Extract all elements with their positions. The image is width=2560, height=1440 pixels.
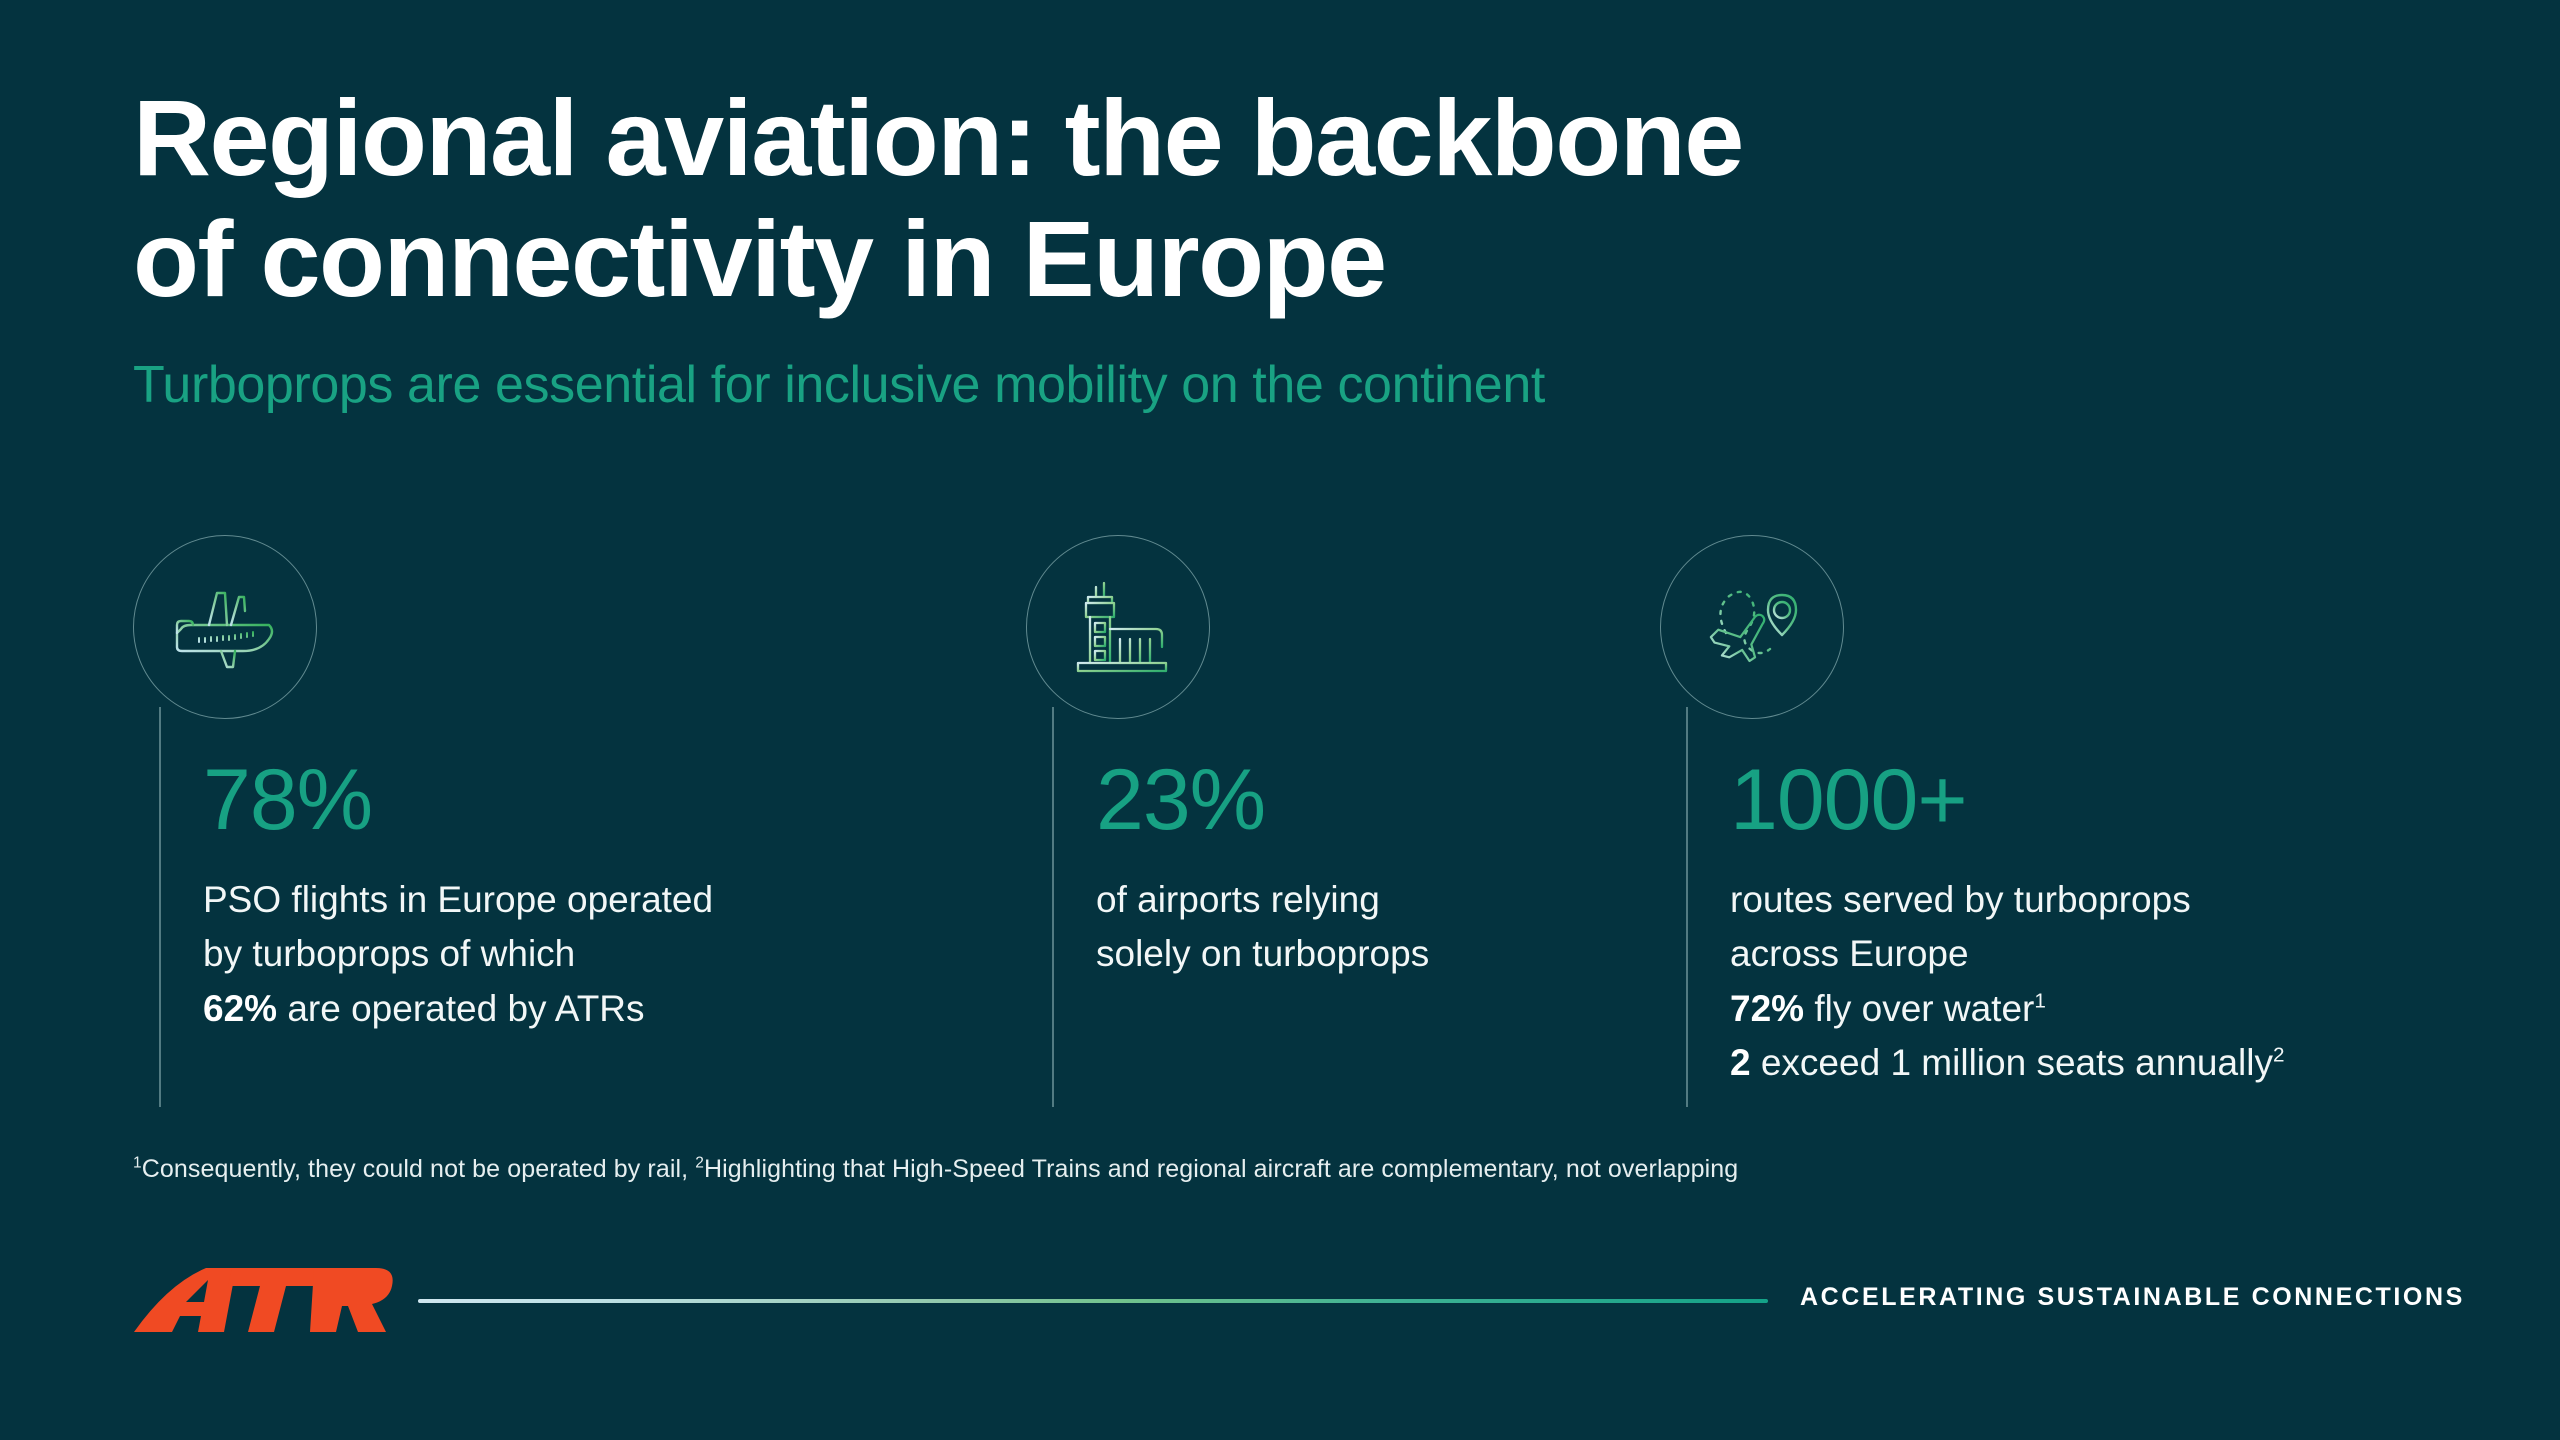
page-title: Regional aviation: the backbone of conne…	[133, 78, 2333, 320]
stat-value: 78%	[203, 757, 983, 843]
stat-description-line: routes served by turboprops	[1730, 873, 2490, 927]
stat-value: 1000+	[1730, 757, 2490, 843]
footnote-marker-2: 2	[695, 1155, 704, 1172]
stat-description-line: 2 exceed 1 million seats annually2	[1730, 1036, 2490, 1090]
header: Regional aviation: the backbone of conne…	[133, 78, 2333, 416]
icon-circle-outline	[133, 535, 317, 719]
icon-container	[1660, 535, 1846, 721]
footer-gradient-rule	[418, 1299, 1768, 1303]
stat-body: 23% of airports relyingsolely on turbopr…	[1096, 757, 1716, 982]
footer-tagline: ACCELERATING SUSTAINABLE CONNECTIONS	[1800, 1283, 2465, 1312]
stat-description-line: by turboprops of which	[203, 927, 983, 981]
stat-column-airport: 23% of airports relyingsolely on turbopr…	[1026, 535, 1686, 721]
stat-column-airplane: 78% PSO flights in Europe operatedby tur…	[133, 535, 993, 721]
stat-description-line: 72% fly over water1	[1730, 982, 2490, 1036]
stat-description-line: solely on turboprops	[1096, 927, 1716, 981]
stat-highlight: 72%	[1730, 988, 1804, 1029]
icon-container	[133, 535, 319, 721]
footnote-marker-1: 1	[133, 1155, 142, 1172]
icon-container	[1026, 535, 1212, 721]
stat-highlight: 2	[1730, 1042, 1751, 1083]
stat-description-line: across Europe	[1730, 927, 2490, 981]
icon-circle-outline	[1026, 535, 1210, 719]
column-divider-line	[159, 707, 161, 1107]
stat-value: 23%	[1096, 757, 1716, 843]
footnote-reference: 1	[2034, 989, 2046, 1012]
page-subtitle: Turboprops are essential for inclusive m…	[133, 320, 2333, 416]
stat-columns: 78% PSO flights in Europe operatedby tur…	[0, 535, 2560, 1095]
stat-description-line: 62% are operated by ATRs	[203, 982, 983, 1036]
column-divider-line	[1052, 707, 1054, 1107]
stat-body: 78% PSO flights in Europe operatedby tur…	[203, 757, 983, 1036]
stat-description: of airports relyingsolely on turboprops	[1096, 873, 1716, 982]
footnote-text-1: Consequently, they could not be operated…	[142, 1155, 696, 1183]
stat-description-line: PSO flights in Europe operated	[203, 873, 983, 927]
stat-column-routes: 1000+ routes served by turbopropsacross …	[1660, 535, 2460, 721]
footnote: 1Consequently, they could not be operate…	[133, 1155, 1738, 1184]
stat-highlight: 62%	[203, 988, 277, 1029]
infographic-canvas: Regional aviation: the backbone of conne…	[0, 0, 2560, 1440]
stat-body: 1000+ routes served by turbopropsacross …	[1730, 757, 2490, 1091]
column-divider-line	[1686, 707, 1688, 1107]
atr-logo	[128, 1262, 398, 1340]
footnote-reference: 2	[2273, 1044, 2285, 1067]
icon-circle-outline	[1660, 535, 1844, 719]
stat-description: PSO flights in Europe operatedby turbopr…	[203, 873, 983, 1036]
footnote-text-2: Highlighting that High-Speed Trains and …	[704, 1155, 1738, 1183]
footer: ACCELERATING SUSTAINABLE CONNECTIONS	[0, 1262, 2560, 1352]
stat-description: routes served by turbopropsacross Europe…	[1730, 873, 2490, 1091]
stat-description-line: of airports relying	[1096, 873, 1716, 927]
